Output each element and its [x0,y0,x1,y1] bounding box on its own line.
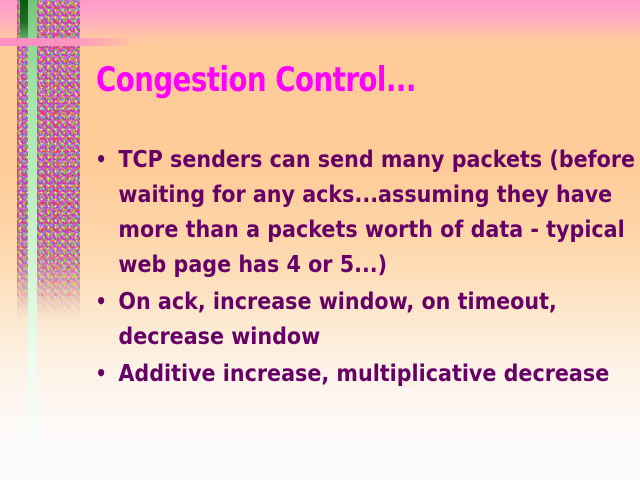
decorative-pink-band [0,38,150,46]
slide-bullet-list: TCP senders can send many packets (befor… [92,142,628,393]
bullet-text: TCP senders can send many packets (befor… [118,145,635,278]
decorative-speckle-overlay [17,0,80,320]
decorative-dark-green-stripe [20,0,28,40]
decorative-light-green-stripe [28,0,37,480]
bullet-on-ack-increase-window: On ack, increase window, on timeout, dec… [92,284,640,354]
slide-title: Congestion Control... [96,60,416,100]
bullet-text: On ack, increase window, on timeout, dec… [118,287,556,350]
bullet-text: Additive increase, multiplicative decrea… [118,359,609,387]
bullet-additive-increase: Additive increase, multiplicative decrea… [92,356,640,391]
bullet-tcp-senders-window: TCP senders can send many packets (befor… [92,142,640,282]
slide-canvas: Congestion Control... TCP senders can se… [0,0,640,480]
